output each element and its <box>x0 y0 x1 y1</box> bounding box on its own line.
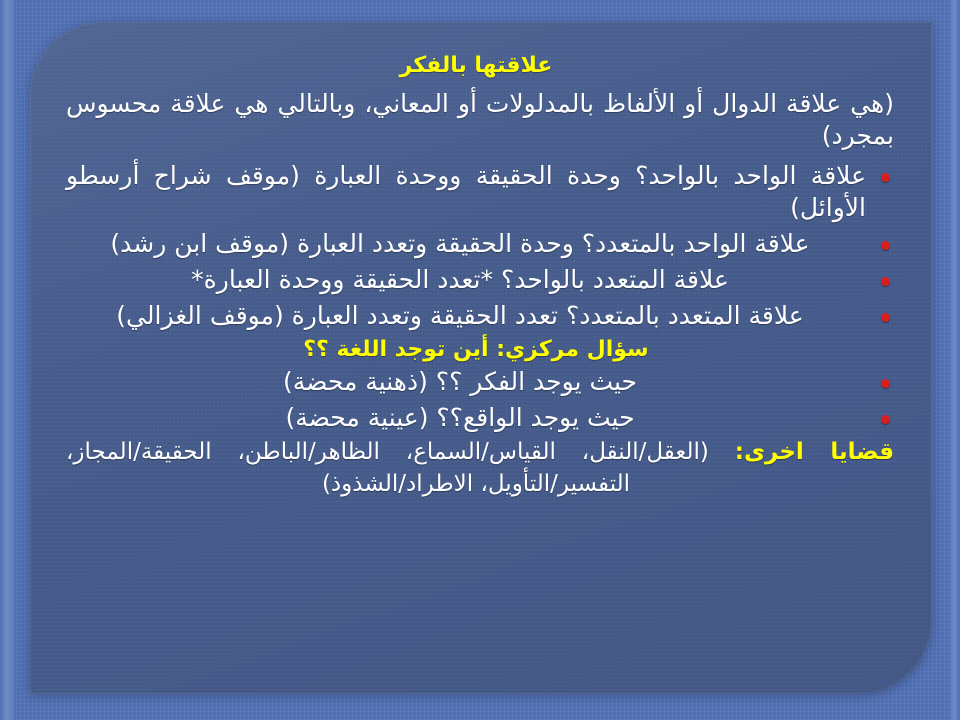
list-item-label: علاقة المتعدد بالواحد؟ *تعدد الحقيقة ووح… <box>191 265 729 294</box>
list-item-label: علاقة الواحد بالمتعدد؟ وحدة الحقيقة وتعد… <box>110 229 809 258</box>
bullet-dot-icon <box>881 379 890 388</box>
list-item-label: حيث يوجد الواقع؟؟ (عينية محضة) <box>285 403 634 432</box>
other-issues-body: (العقل/النقل، القياس/السماع، الظاهر/البا… <box>66 439 709 465</box>
definition-paragraph: (هي علاقة الدوال أو الألفاظ بالمدلولات أ… <box>48 88 912 152</box>
list-item: علاقة المتعدد بالمتعدد؟ تعدد الحقيقة وتع… <box>48 300 912 332</box>
list-item: علاقة الواحد بالمتعدد؟ وحدة الحقيقة وتعد… <box>48 228 912 260</box>
frame-left-edge <box>0 0 14 720</box>
central-question-heading: سؤال مركزي: أين توجد اللغة ؟؟ <box>48 336 912 364</box>
slide-body: علاقتها بالفكر (هي علاقة الدوال أو الألف… <box>30 22 932 511</box>
slide-content-panel: علاقتها بالفكر (هي علاقة الدوال أو الألف… <box>30 22 932 694</box>
bullet-dot-icon <box>881 241 890 250</box>
bullet-dot-icon <box>881 173 890 182</box>
list-item: حيث يوجد الواقع؟؟ (عينية محضة) <box>48 402 912 434</box>
other-issues-label: قضايا اخرى: <box>735 439 894 465</box>
bullet-dot-icon <box>881 313 890 322</box>
other-issues-continuation: التفسير/التأويل، الاطراد/الشذوذ) <box>48 470 912 499</box>
list-item: علاقة الواحد بالواحد؟ وحدة الحقيقة ووحدة… <box>48 160 912 224</box>
list-item-label: علاقة المتعدد بالمتعدد؟ تعدد الحقيقة وتع… <box>116 301 803 330</box>
other-issues-line: قضايا اخرى: (العقل/النقل، القياس/السماع،… <box>48 438 912 467</box>
slide-title: علاقتها بالفكر <box>48 52 912 80</box>
bullet-dot-icon <box>881 415 890 424</box>
list-item-label: علاقة الواحد بالواحد؟ وحدة الحقيقة ووحدة… <box>66 161 866 222</box>
list-item-label: حيث يوجد الفكر ؟؟ (ذهنية محضة) <box>283 367 637 396</box>
list-item: حيث يوجد الفكر ؟؟ (ذهنية محضة) <box>48 366 912 398</box>
frame-right-edge <box>950 0 960 720</box>
list-item: علاقة المتعدد بالواحد؟ *تعدد الحقيقة ووح… <box>48 264 912 296</box>
presentation-slide: علاقتها بالفكر (هي علاقة الدوال أو الألف… <box>0 0 960 720</box>
bullet-dot-icon <box>881 277 890 286</box>
